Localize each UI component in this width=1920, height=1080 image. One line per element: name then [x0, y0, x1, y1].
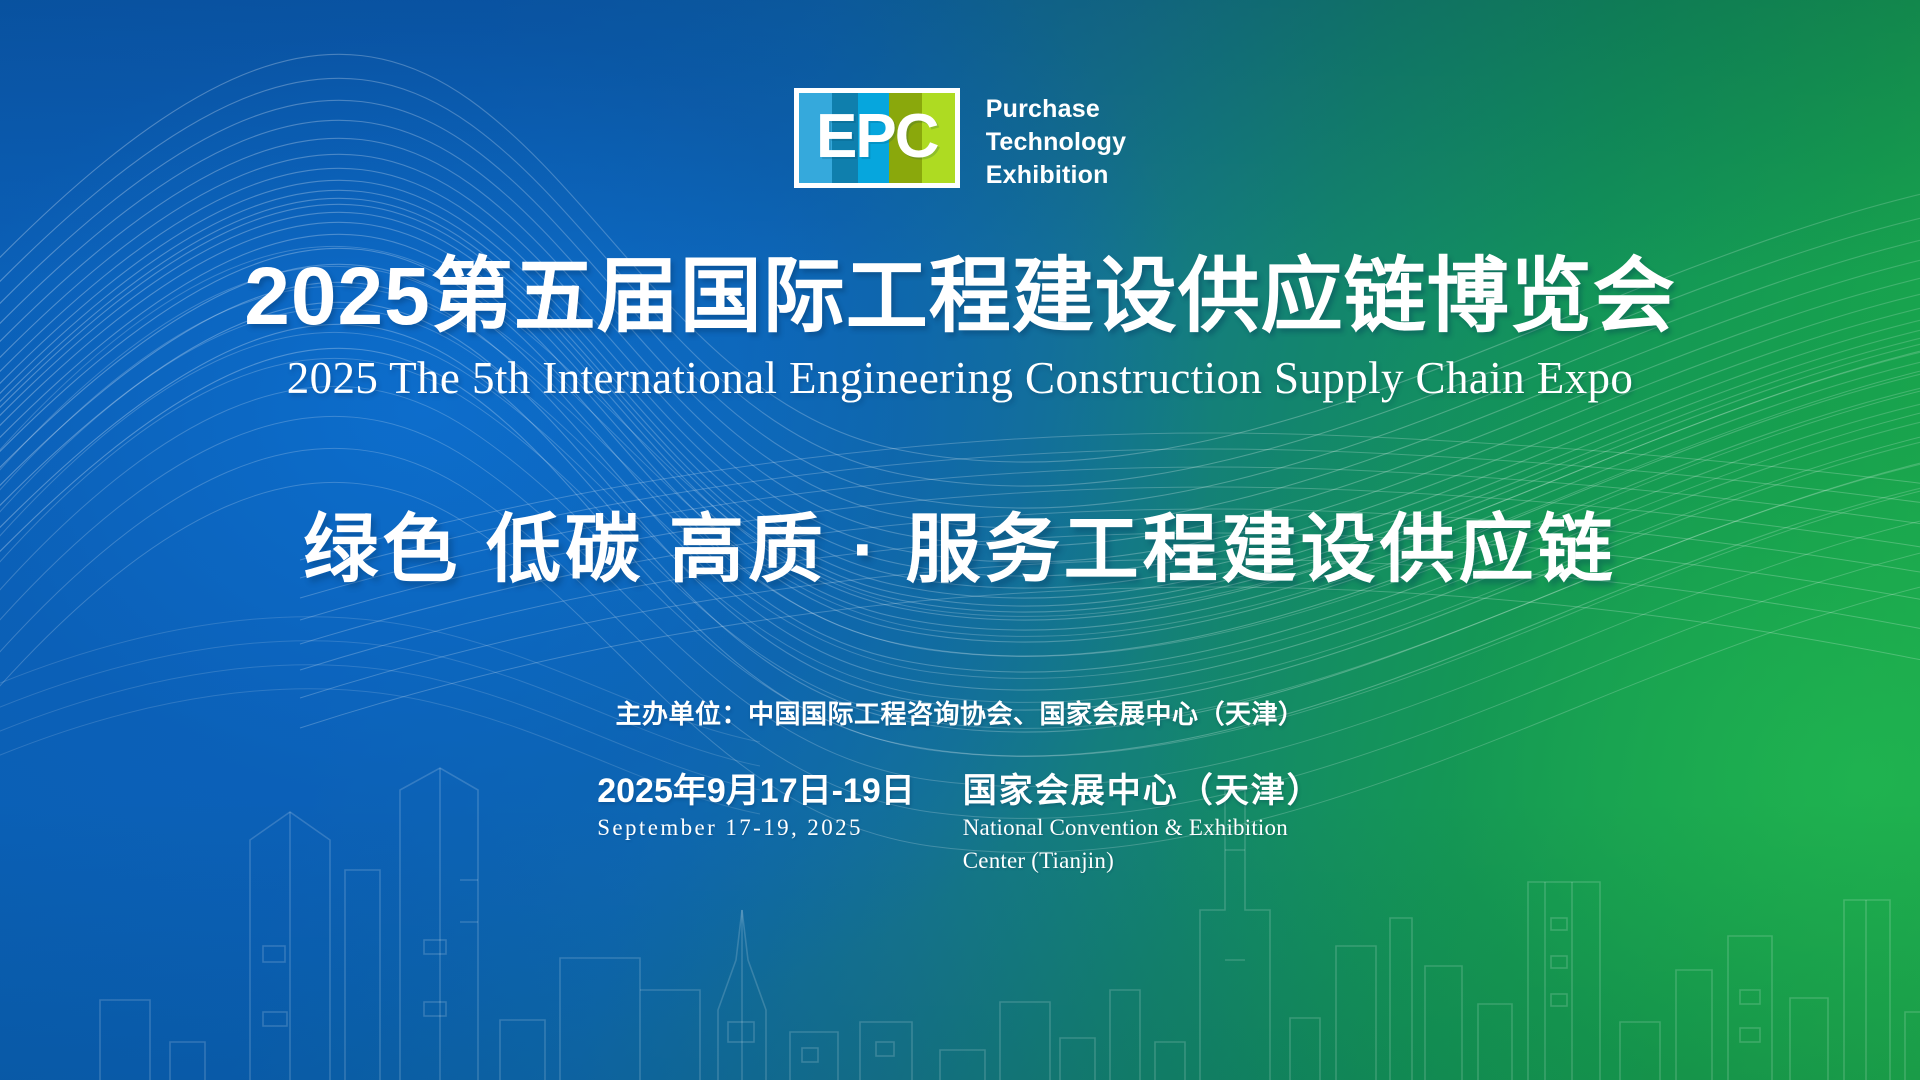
main-title-chinese: 2025第五届国际工程建设供应链博览会 [0, 256, 1920, 338]
venue-english-line-2: Center (Tianjin) [963, 843, 1323, 876]
date-venue-row: 2025年9月17日-19日 September 17-19, 2025 国家会… [0, 772, 1920, 875]
logo-wordmark-line-3: Exhibition [986, 159, 1126, 192]
event-slogan: 绿色 低碳 高质 · 服务工程建设供应链 [0, 512, 1920, 587]
main-title-english: 2025 The 5th International Engineering C… [0, 356, 1920, 401]
logo-wordmark-line-1: Purchase [986, 93, 1126, 126]
date-block: 2025年9月17日-19日 September 17-19, 2025 [597, 772, 915, 843]
venue-block: 国家会展中心（天津） National Convention & Exhibit… [963, 772, 1323, 875]
date-chinese: 2025年9月17日-19日 [597, 772, 915, 810]
logo-wordmark: Purchase Technology Exhibition [986, 88, 1126, 192]
organizer-line: 主办单位：中国国际工程咨询协会、国家会展中心（天津） [0, 694, 1920, 731]
venue-english-line-1: National Convention & Exhibition [963, 810, 1323, 843]
venue-chinese: 国家会展中心（天津） [963, 772, 1323, 810]
logo-letters: EPC [794, 88, 960, 188]
date-english: September 17-19, 2025 [597, 810, 915, 843]
event-banner: EPC Purchase Technology Exhibition 2025第… [0, 0, 1920, 1080]
logo-wordmark-line-2: Technology [986, 126, 1126, 159]
epc-logo-lockup: EPC Purchase Technology Exhibition [0, 88, 1920, 192]
epc-logo-mark: EPC [794, 88, 960, 188]
